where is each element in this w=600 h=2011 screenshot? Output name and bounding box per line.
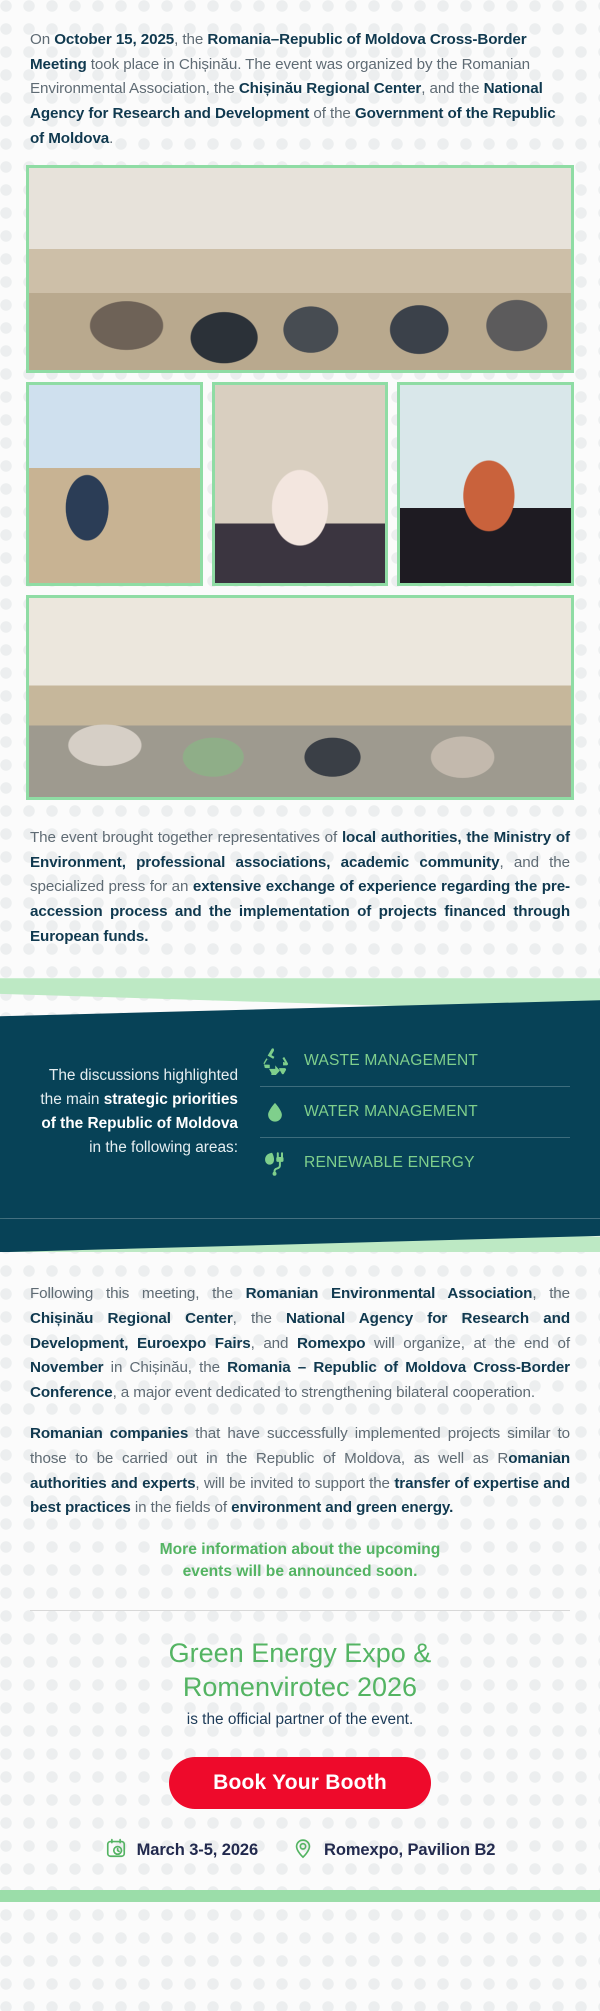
calendar-clock-icon (105, 1837, 127, 1864)
priority-renewable-energy: RENEWABLE ENERGY (260, 1137, 570, 1188)
photo-gallery (0, 151, 600, 800)
more-info-line-1: More information about the upcoming (30, 1539, 570, 1562)
summary-section: The event brought together representativ… (0, 800, 600, 979)
photo-row-three (26, 382, 574, 586)
photo-woman-speaking (212, 382, 389, 586)
partner-title-line-1: Green Energy Expo & (0, 1637, 600, 1670)
footer-accent-bar (0, 1890, 600, 1902)
priority-waste-management: WASTE MANAGEMENT (260, 1036, 570, 1086)
cta-container: Book Your Booth (0, 1757, 600, 1809)
partner-subtitle: is the official partner of the event. (0, 1711, 600, 1729)
map-pin-icon (292, 1837, 314, 1864)
event-date-item: March 3-5, 2026 (105, 1837, 258, 1864)
more-info-note: More information about the upcoming even… (30, 1539, 570, 1584)
partner-section: Green Energy Expo & Romenvirotec 2026 is… (0, 1637, 600, 1729)
priority-water-management: WATER MANAGEMENT (260, 1086, 570, 1137)
event-meta: March 3-5, 2026 Romexpo, Pavilion B2 (0, 1837, 600, 1864)
renewable-energy-icon (260, 1147, 290, 1179)
priorities-list: WASTE MANAGEMENT WATER MANAGEMENT (260, 1036, 570, 1188)
summary-paragraph: The event brought together representativ… (30, 826, 570, 949)
divider (30, 1610, 570, 1611)
priorities-lead-text: The discussions highlighted the main str… (30, 1064, 238, 1160)
priority-label: WASTE MANAGEMENT (304, 1052, 478, 1070)
partner-title-line-2: Romenvirotec 2026 (0, 1671, 600, 1704)
photo-woman-orange-jacket (397, 382, 574, 586)
event-date-text: March 3-5, 2026 (137, 1841, 258, 1860)
follow-up-paragraph-1: Following this meeting, the Romanian Env… (30, 1282, 570, 1405)
priorities-band: The discussions highlighted the main str… (0, 978, 600, 1252)
intro-section: On October 15, 2025, the Romania–Republi… (0, 0, 600, 151)
photo-speaker-presentation-vorbitori (26, 382, 203, 586)
recycle-icon (260, 1045, 290, 1077)
intro-paragraph: On October 15, 2025, the Romania–Republi… (30, 28, 570, 151)
book-your-booth-button[interactable]: Book Your Booth (169, 1757, 431, 1809)
partner-title: Green Energy Expo & Romenvirotec 2026 (0, 1637, 600, 1704)
event-location-text: Romexpo, Pavilion B2 (324, 1841, 495, 1860)
follow-up-section: Following this meeting, the Romanian Env… (0, 1252, 600, 1584)
photo-meeting-room-table (26, 165, 574, 373)
priority-label: WATER MANAGEMENT (304, 1103, 478, 1121)
priority-label: RENEWABLE ENERGY (304, 1154, 475, 1172)
newsletter-page: On October 15, 2025, the Romania–Republi… (0, 0, 600, 2011)
event-location-item: Romexpo, Pavilion B2 (292, 1837, 495, 1864)
follow-up-paragraph-2: Romanian companies that have successfull… (30, 1422, 570, 1521)
photo-conference-audience (26, 595, 574, 800)
more-info-line-2: events will be announced soon. (30, 1561, 570, 1584)
water-drop-icon (260, 1096, 290, 1128)
priorities-band-body: The discussions highlighted the main str… (0, 1000, 600, 1218)
